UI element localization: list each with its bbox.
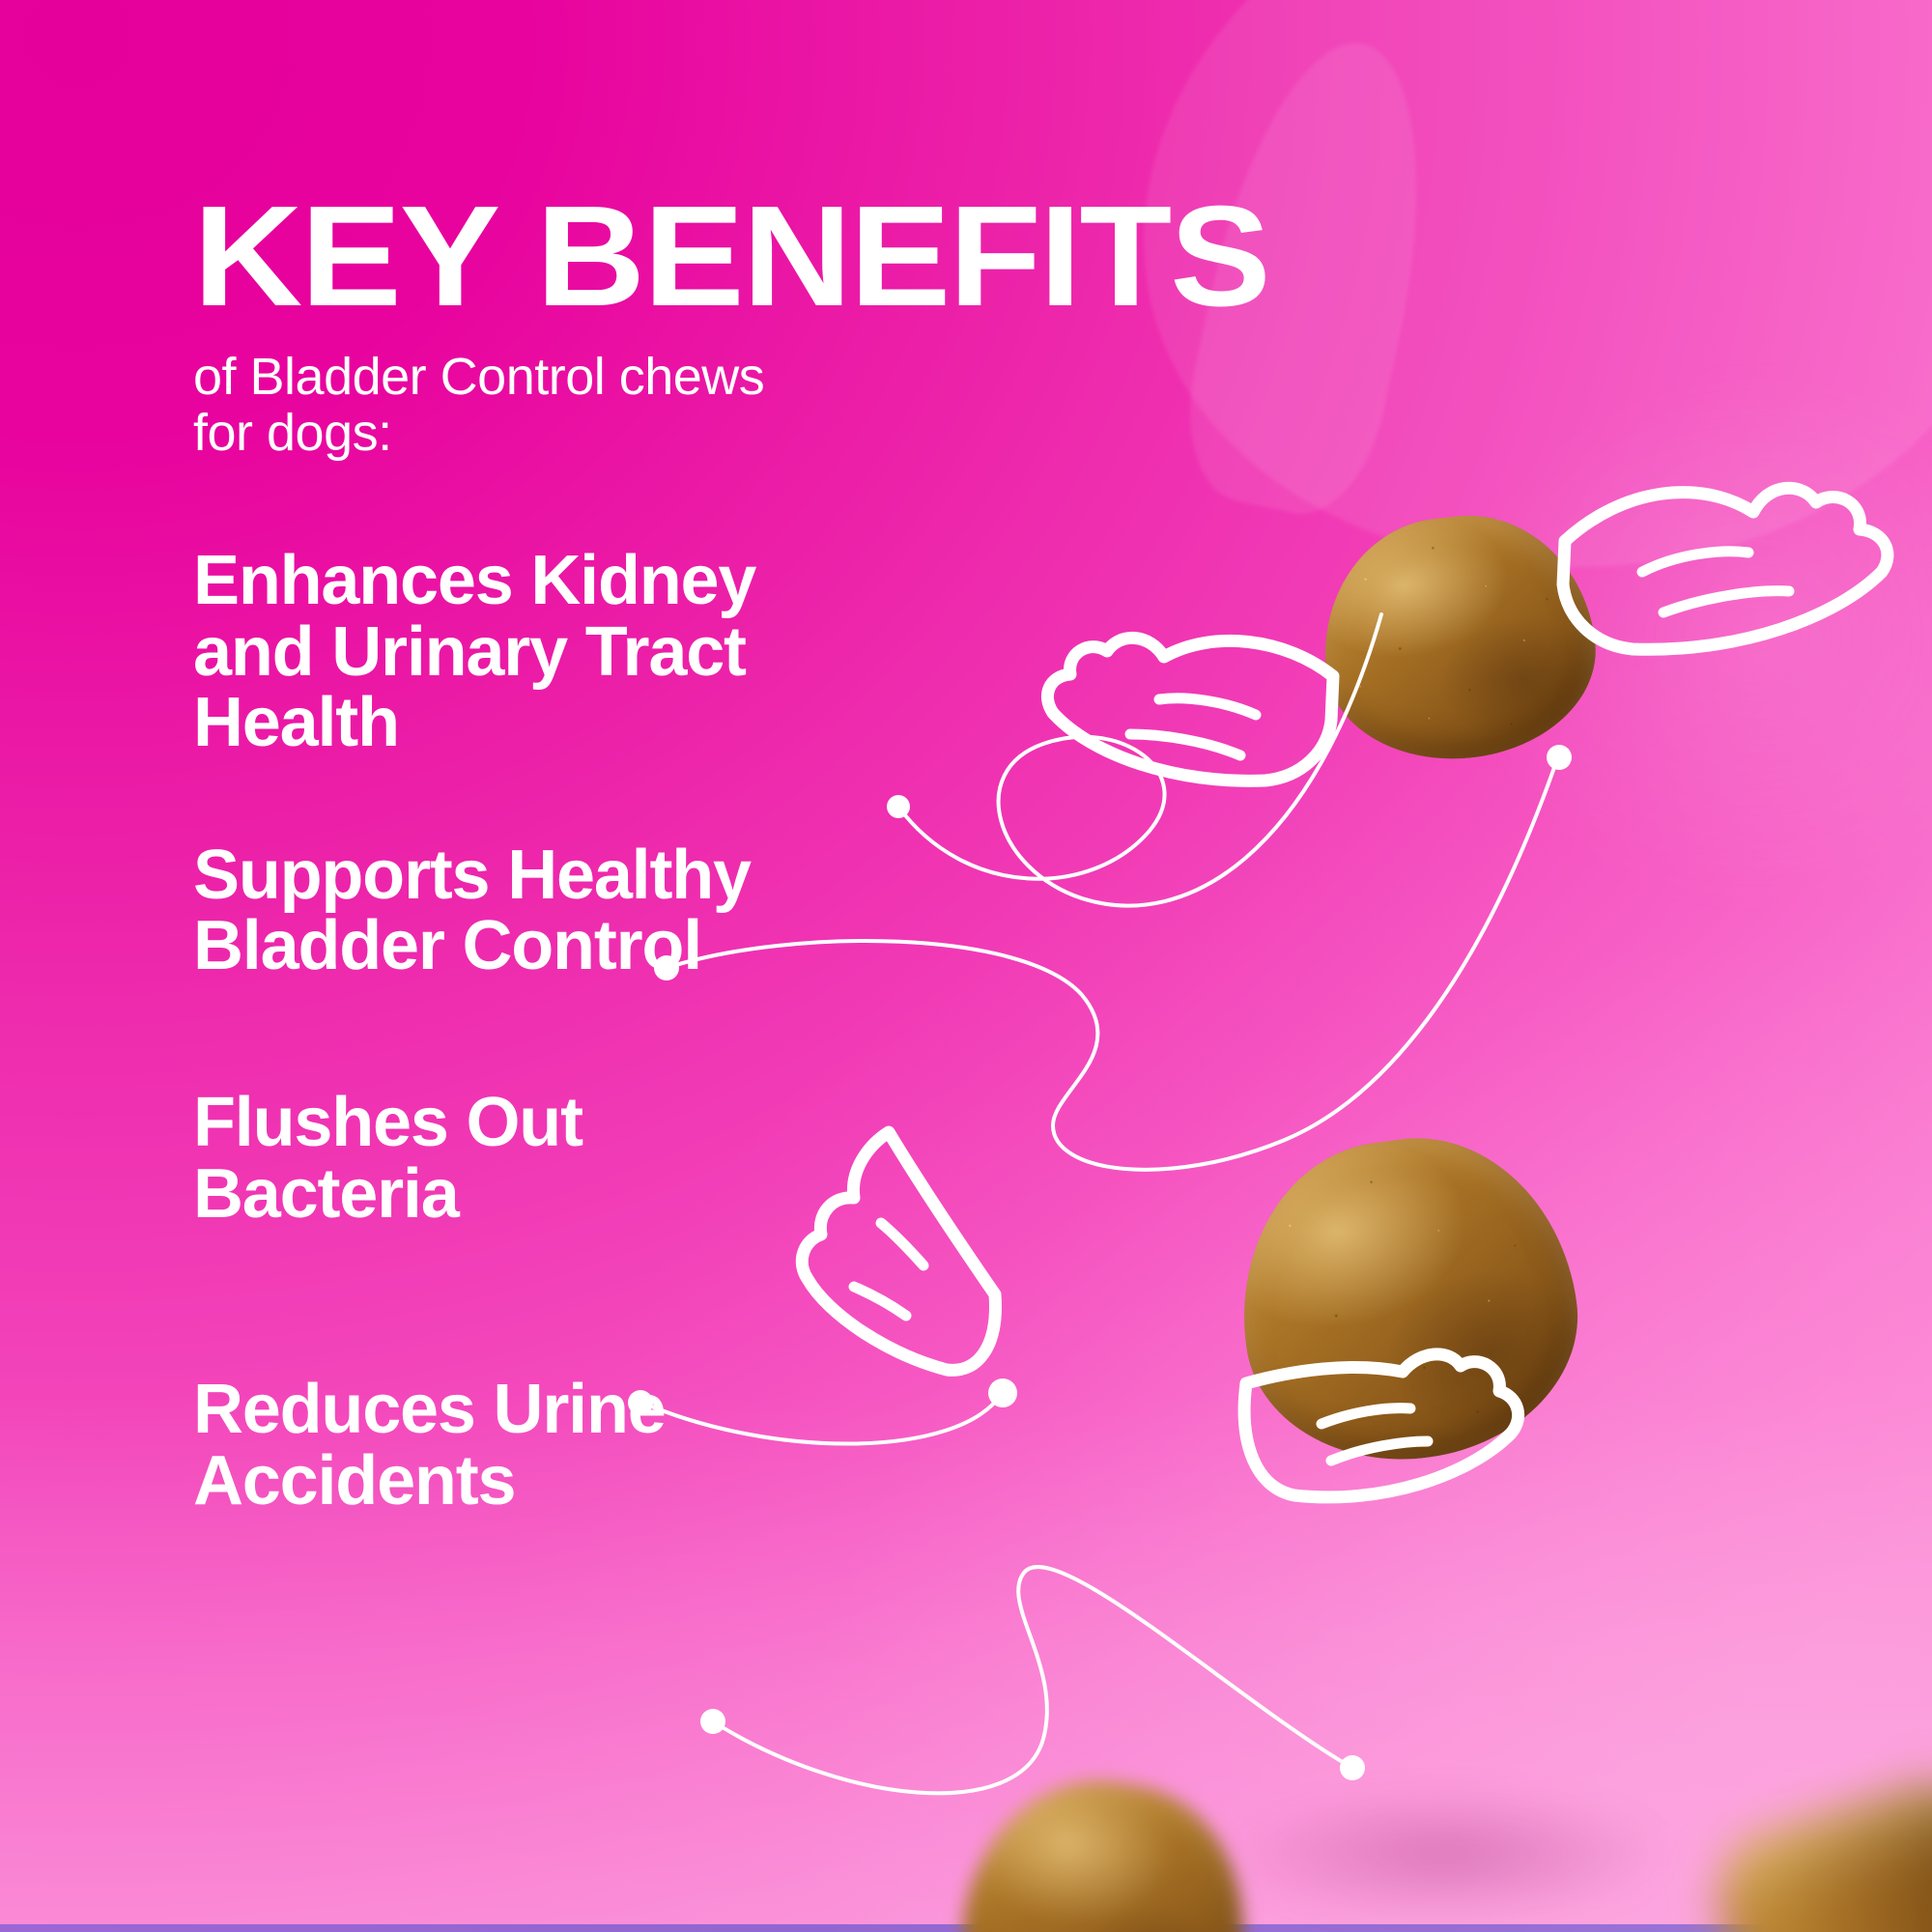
benefit-item-accidents: Reduces Urine Accidents xyxy=(193,1375,811,1517)
benefit-list: Enhances Kidney and Urinary Tract Health… xyxy=(193,546,1159,1517)
page-subtitle-line-2: for dogs: xyxy=(193,405,1159,461)
chew-heart-top xyxy=(1312,503,1606,772)
page-subtitle: of Bladder Control chews for dogs: xyxy=(193,349,1159,462)
benefit-item-bacteria: Flushes Out Bacteria xyxy=(193,1088,734,1230)
text-column: KEY BENEFITS of Bladder Control chews fo… xyxy=(193,189,1159,1517)
benefit-item-bladder: Supports Healthy Bladder Control xyxy=(193,840,811,982)
chew-heart-second xyxy=(1221,1119,1596,1481)
benefit-item-kidney: Enhances Kidney and Urinary Tract Health xyxy=(193,546,869,758)
page-subtitle-line-1: of Bladder Control chews xyxy=(193,349,1159,405)
page-title: KEY BENEFITS xyxy=(193,189,1217,326)
key-benefits-graphic: KEY BENEFITS of Bladder Control chews fo… xyxy=(0,0,1932,1932)
chew-stack-shadow xyxy=(1227,1787,1671,1922)
